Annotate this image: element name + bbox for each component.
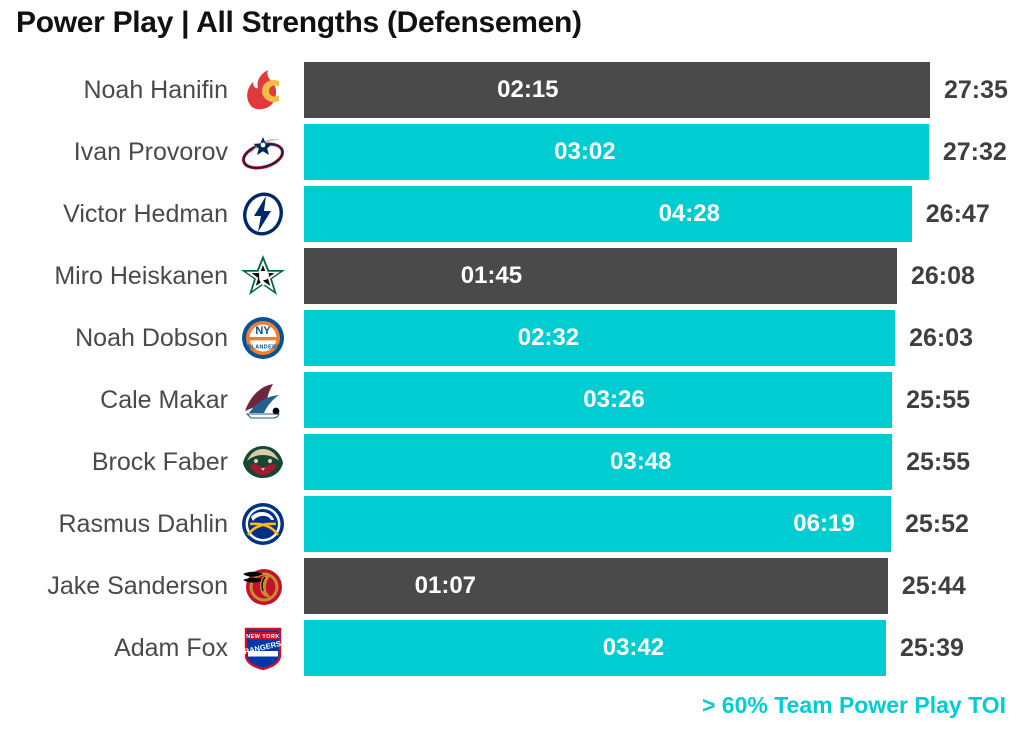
- wild-logo: [236, 434, 290, 490]
- chart-row: Jake Sanderson 01:0725:44: [0, 558, 1024, 620]
- player-name: Victor Hedman: [0, 186, 228, 242]
- islanders-logo: NY ISLANDERS: [236, 310, 290, 366]
- power-play-toi-chart: Power Play | All Strengths (Defensemen) …: [0, 0, 1024, 731]
- svg-text:ISLANDERS: ISLANDERS: [246, 345, 281, 351]
- player-name: Rasmus Dahlin: [0, 496, 228, 552]
- toi-bar: [304, 186, 912, 242]
- total-toi-label: 26:03: [909, 310, 973, 366]
- senators-logo: [236, 558, 290, 614]
- toi-bar: [304, 558, 888, 614]
- chart-row: Miro Heiskanen 01:4526:08: [0, 248, 1024, 310]
- toi-bar: [304, 124, 929, 180]
- player-name: Noah Hanifin: [0, 62, 228, 118]
- player-name: Brock Faber: [0, 434, 228, 490]
- lightning-logo: [236, 186, 290, 242]
- chart-row: Adam Fox NEW YORK RANGERS 03:4225:39: [0, 620, 1024, 682]
- player-name: Cale Makar: [0, 372, 228, 428]
- toi-bar: [304, 62, 930, 118]
- toi-bar: [304, 496, 891, 552]
- sabres-logo: [236, 496, 290, 552]
- legend-note: > 60% Team Power Play TOI: [702, 692, 1006, 719]
- stars-logo: [236, 248, 290, 304]
- blue-jackets-logo: [236, 124, 290, 180]
- player-name: Ivan Provorov: [0, 124, 228, 180]
- bar-track: 03:4825:55: [304, 434, 1004, 490]
- bar-track: 01:0725:44: [304, 558, 1004, 614]
- chart-row: Brock Faber 03:4825:55: [0, 434, 1024, 496]
- player-name: Miro Heiskanen: [0, 248, 228, 304]
- bar-track: 03:4225:39: [304, 620, 1004, 676]
- page-title: Power Play | All Strengths (Defensemen): [16, 6, 582, 40]
- toi-bar: [304, 248, 897, 304]
- total-toi-label: 27:32: [943, 124, 1007, 180]
- bar-track: 04:2826:47: [304, 186, 1004, 242]
- chart-row: Ivan Provorov 03:0227:32: [0, 124, 1024, 186]
- total-toi-label: 25:52: [905, 496, 969, 552]
- bar-track: 02:1527:35: [304, 62, 1004, 118]
- bar-track: 03:2625:55: [304, 372, 1004, 428]
- flames-logo: [236, 62, 290, 118]
- total-toi-label: 25:39: [900, 620, 964, 676]
- avalanche-logo: [236, 372, 290, 428]
- chart-row: Noah Hanifin 02:1527:35: [0, 62, 1024, 124]
- rangers-logo: NEW YORK RANGERS: [236, 620, 290, 676]
- total-toi-label: 26:47: [926, 186, 990, 242]
- bar-track: 02:3226:03: [304, 310, 1004, 366]
- toi-bar: [304, 372, 892, 428]
- bar-track: 06:1925:52: [304, 496, 1004, 552]
- total-toi-label: 27:35: [944, 62, 1008, 118]
- svg-text:NY: NY: [255, 325, 271, 337]
- chart-row: Victor Hedman 04:2826:47: [0, 186, 1024, 248]
- player-name: Adam Fox: [0, 620, 228, 676]
- chart-row: Noah Dobson NY ISLANDERS 02:3226:03: [0, 310, 1024, 372]
- total-toi-label: 25:55: [906, 372, 970, 428]
- bar-track: 01:4526:08: [304, 248, 1004, 304]
- total-toi-label: 25:55: [906, 434, 970, 490]
- chart-row: Rasmus Dahlin 06:1925:52: [0, 496, 1024, 558]
- player-name: Jake Sanderson: [0, 558, 228, 614]
- bar-track: 03:0227:32: [304, 124, 1004, 180]
- total-toi-label: 26:08: [911, 248, 975, 304]
- chart-rows: Noah Hanifin 02:1527:35Ivan Provorov 03:…: [0, 62, 1024, 682]
- player-name: Noah Dobson: [0, 310, 228, 366]
- toi-bar: [304, 620, 886, 676]
- chart-row: Cale Makar 03:2625:55: [0, 372, 1024, 434]
- total-toi-label: 25:44: [902, 558, 966, 614]
- toi-bar: [304, 434, 892, 490]
- toi-bar: [304, 310, 895, 366]
